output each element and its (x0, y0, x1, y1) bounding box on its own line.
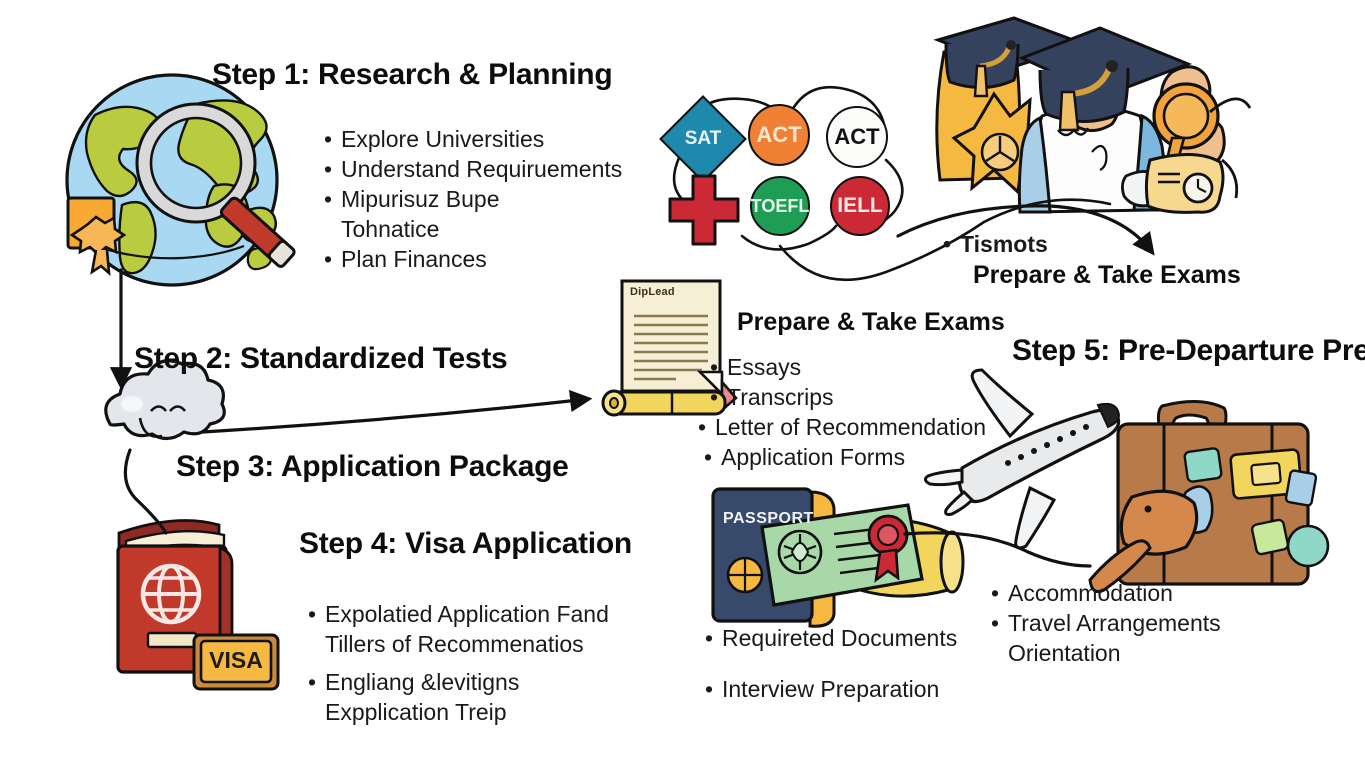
graduating-students-illustration (937, 18, 1250, 212)
step4-bullet-2: Engliang &levitigns (325, 668, 609, 698)
step4-bullet-list: Expolatied Application Fand Tillers of R… (325, 600, 609, 728)
step4-bullet-1: Tillers of Recommenatios (325, 630, 609, 660)
step1-bullet-list: Explore Universities Understand Requirue… (341, 125, 681, 274)
test-badge-iell: IELL (830, 176, 890, 236)
step1-bullet-0: Explore Universities (341, 125, 681, 155)
step4-bullet-3: Expplication Treip (325, 698, 609, 728)
step1-bullet-3: Tohnatice (341, 215, 681, 245)
step1-heading: Step 1: Research & Planning (212, 58, 612, 92)
step1-bullet-2: Mipurisuz Bupe (341, 185, 681, 215)
package-block-list: Essays Transcrips Letter of Recommendati… (727, 353, 986, 473)
step1-bullet-4: Plan Finances (341, 245, 681, 275)
globe-magnifier-illustration (67, 75, 296, 285)
step5-bullet-list: Accommodation Travel Arrangements Orient… (1008, 579, 1221, 669)
exam-callout: Tismots (960, 230, 1048, 260)
diploma-label: DipLead (630, 286, 675, 298)
step5-bullet-0: Accommodation (1008, 579, 1221, 609)
passport-label: PASSPORT (723, 510, 814, 528)
connector-cloud-to-passport (125, 450, 166, 533)
test-badge-act-orange: ACT (748, 104, 810, 166)
step4-heading: Step 4: Visa Application (299, 527, 632, 561)
step1-bullet-1: Understand Requiruements (341, 155, 681, 185)
arrow-step2-to-step3 (203, 399, 588, 432)
step5-bullet-1: Travel Arrangements (1008, 609, 1221, 639)
test-badge-toefl: TOEFL (750, 176, 810, 236)
visa-card-label: VISA (201, 647, 271, 674)
visa-docs-bullet-0: Requireted Documents (722, 627, 957, 650)
package-bullet-0: Essays (727, 353, 986, 383)
step4-bullet-0: Expolatied Application Fand (325, 600, 609, 630)
connector-docs-to-travel (905, 533, 1090, 566)
step3-heading: Step 3: Application Package (176, 450, 569, 484)
package-block-heading: Prepare & Take Exams (737, 308, 1005, 337)
test-badge-act-white: ACT (826, 106, 888, 168)
visa-docs-bullet-1: Interview Preparation (722, 678, 957, 701)
exam-callout-subtitle: Prepare & Take Exams (973, 261, 1241, 290)
exam-callout-label: Tismots (960, 230, 1048, 260)
package-bullet-2: Letter of Recommendation (715, 413, 986, 443)
package-bullet-3: Application Forms (721, 443, 986, 473)
test-badge-sat-label: SAT (672, 108, 734, 170)
package-bullet-1: Transcrips (727, 383, 986, 413)
step5-bullet-2: Orientation (1008, 639, 1221, 669)
step5-heading: Step 5: Pre-Departure Prep (1012, 334, 1365, 368)
infographic-canvas: Step 1: Research & Planning Explore Univ… (0, 0, 1365, 768)
red-cross-icon (666, 172, 742, 248)
visa-docs-list: Requireted Documents Interview Preparati… (722, 627, 957, 701)
step2-heading: Step 2: Standardized Tests (134, 342, 507, 376)
